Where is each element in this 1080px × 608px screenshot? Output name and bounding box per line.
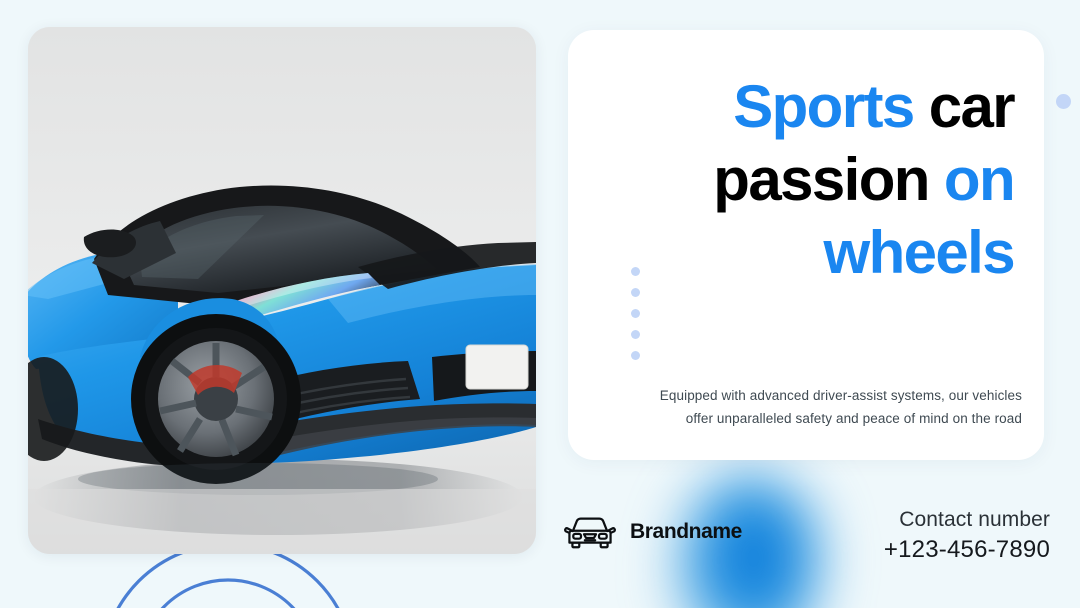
brand-name: Brandname: [630, 520, 742, 544]
brand-lockup[interactable]: Brandname: [562, 514, 742, 550]
contact-label: Contact number: [884, 506, 1050, 534]
decor-dot-icon: [631, 288, 640, 297]
headline-word-wheels: wheels: [824, 219, 1015, 286]
headline-word-car: car: [929, 73, 1014, 140]
sports-car-photo: [28, 27, 536, 554]
headline-word-passion: passion: [713, 146, 929, 213]
headline-word-on: on: [944, 146, 1014, 213]
headline-card: Sports car passion on wheels Equipped wi…: [568, 30, 1044, 460]
page-title: Sports car passion on wheels: [586, 70, 1014, 290]
corner-dot-icon: [1056, 94, 1071, 109]
decor-dot-icon: [631, 330, 640, 339]
headline-word-sports: Sports: [733, 73, 913, 140]
decor-dot-icon: [631, 309, 640, 318]
poster-canvas: Sports car passion on wheels Equipped wi…: [0, 0, 1080, 608]
contact-block[interactable]: Contact number +123-456-7890: [884, 506, 1050, 565]
decor-dot-icon: [631, 351, 640, 360]
dots-decoration: [631, 267, 640, 360]
decor-dot-icon: [631, 267, 640, 276]
contact-number[interactable]: +123-456-7890: [884, 534, 1050, 566]
car-front-icon: [562, 514, 618, 550]
hero-photo-card: [28, 27, 536, 554]
body-paragraph: Equipped with advanced driver-assist sys…: [630, 384, 1022, 430]
